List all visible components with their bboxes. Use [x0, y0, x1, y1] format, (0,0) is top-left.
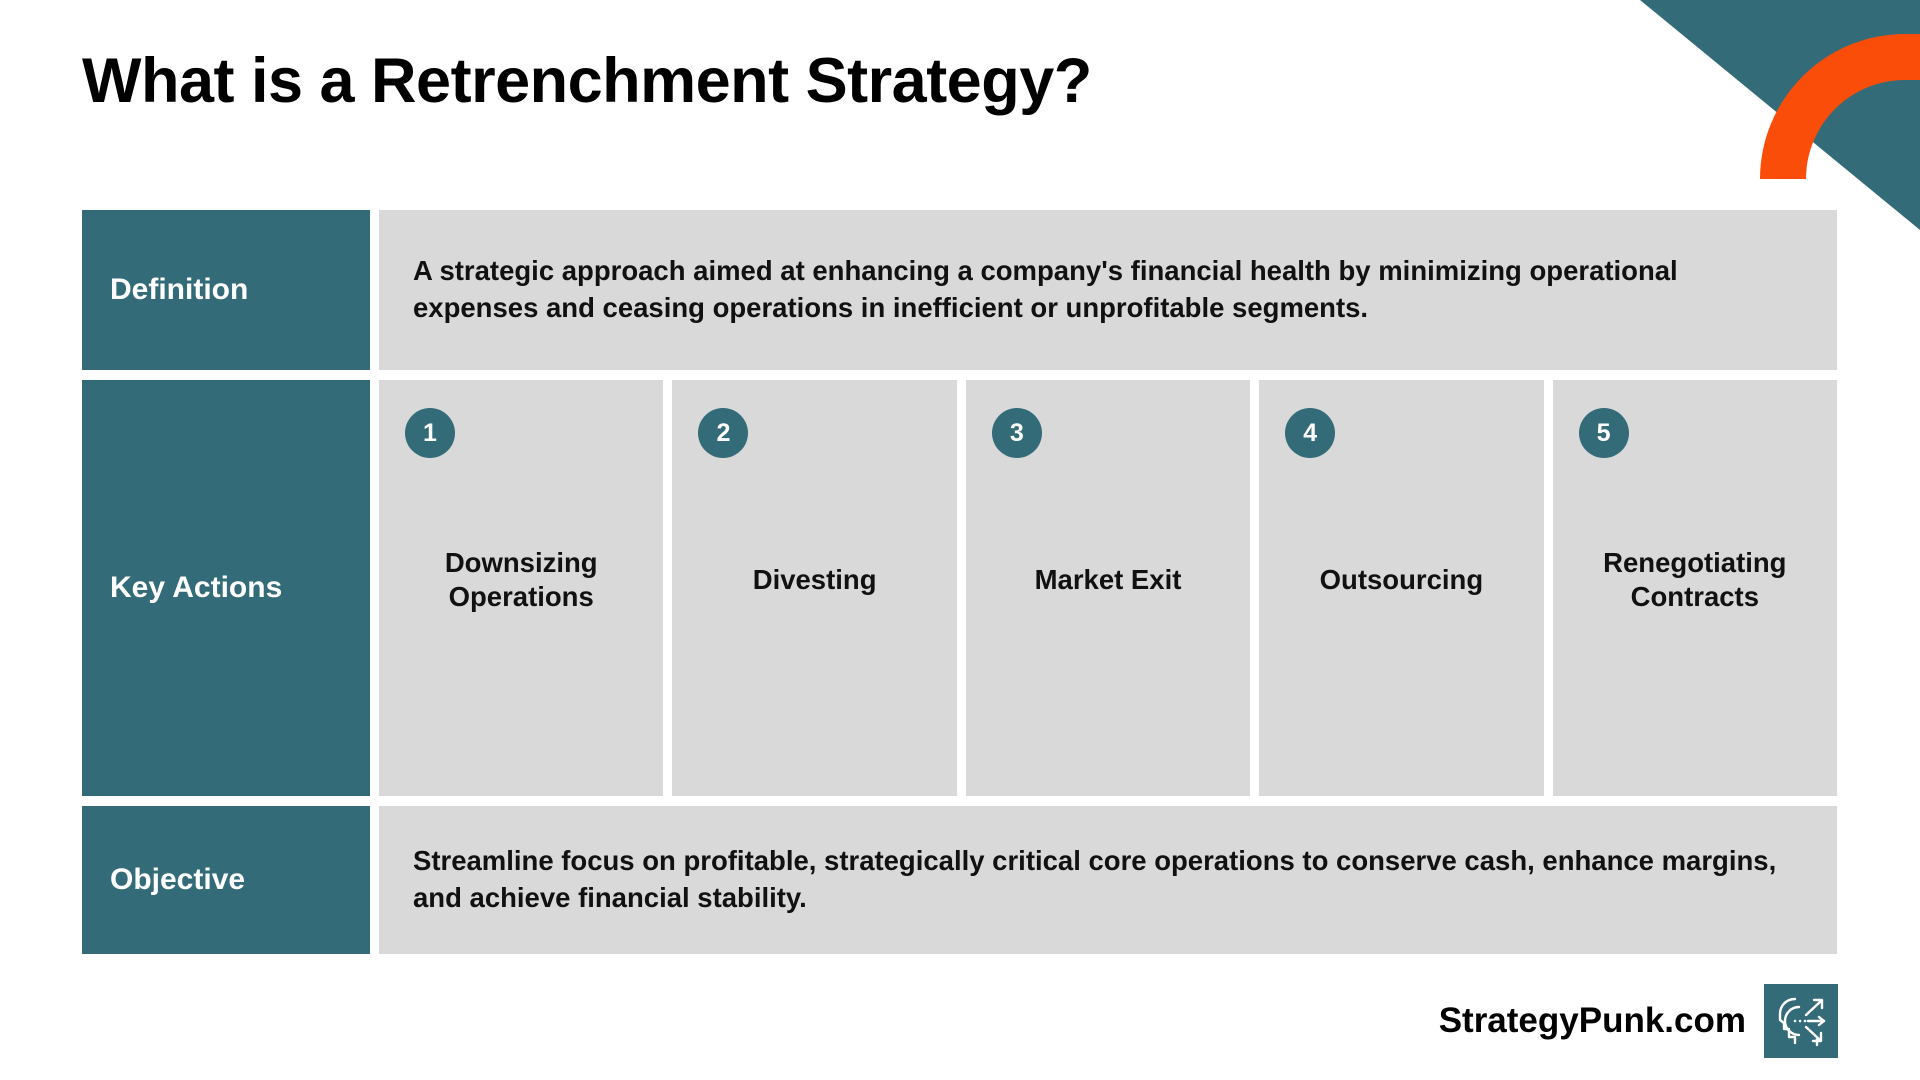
- card-number-badge-4: 4: [1285, 408, 1335, 458]
- card-number-badge-1: 1: [405, 408, 455, 458]
- orange-quarter-arc-icon: [1760, 34, 1920, 179]
- head-profile-arrows-icon[interactable]: [1764, 984, 1838, 1058]
- key-actions-row: Key Actions 1 Downsizing Operations 2 Di…: [82, 380, 1837, 796]
- card-label-3: Market Exit: [1035, 563, 1182, 597]
- objective-row: Objective Streamline focus on profitable…: [82, 806, 1837, 954]
- key-actions-row-label: Key Actions: [82, 380, 370, 796]
- footer: StrategyPunk.com: [1439, 984, 1838, 1058]
- page-title: What is a Retrenchment Strategy?: [82, 45, 1092, 117]
- card-number-badge-5: 5: [1579, 408, 1629, 458]
- definition-text: A strategic approach aimed at enhancing …: [413, 253, 1803, 326]
- corner-decoration: [1640, 0, 1920, 230]
- card-label-5: Renegotiating Contracts: [1567, 546, 1823, 613]
- card-label-1: Downsizing Operations: [393, 546, 649, 613]
- key-action-card-1[interactable]: 1 Downsizing Operations: [379, 380, 663, 796]
- key-action-card-5[interactable]: 5 Renegotiating Contracts: [1553, 380, 1837, 796]
- content-matrix: Definition A strategic approach aimed at…: [82, 210, 1837, 954]
- card-label-4: Outsourcing: [1320, 563, 1483, 597]
- key-action-card-4[interactable]: 4 Outsourcing: [1259, 380, 1543, 796]
- objective-text: Streamline focus on profitable, strategi…: [413, 843, 1803, 916]
- objective-row-label: Objective: [82, 806, 370, 954]
- key-actions-cards: 1 Downsizing Operations 2 Divesting 3 Ma…: [379, 380, 1837, 796]
- card-number-badge-3: 3: [992, 408, 1042, 458]
- key-action-card-3[interactable]: 3 Market Exit: [966, 380, 1250, 796]
- teal-corner-triangle-icon: [1640, 0, 1920, 230]
- card-label-2: Divesting: [753, 563, 877, 597]
- definition-row-label: Definition: [82, 210, 370, 370]
- brand-name: StrategyPunk.com: [1439, 1001, 1746, 1041]
- card-number-badge-2: 2: [698, 408, 748, 458]
- definition-row: Definition A strategic approach aimed at…: [82, 210, 1837, 370]
- objective-row-body: Streamline focus on profitable, strategi…: [379, 806, 1837, 954]
- definition-row-body: A strategic approach aimed at enhancing …: [379, 210, 1837, 370]
- slide: What is a Retrenchment Strategy? Definit…: [0, 0, 1920, 1080]
- key-action-card-2[interactable]: 2 Divesting: [672, 380, 956, 796]
